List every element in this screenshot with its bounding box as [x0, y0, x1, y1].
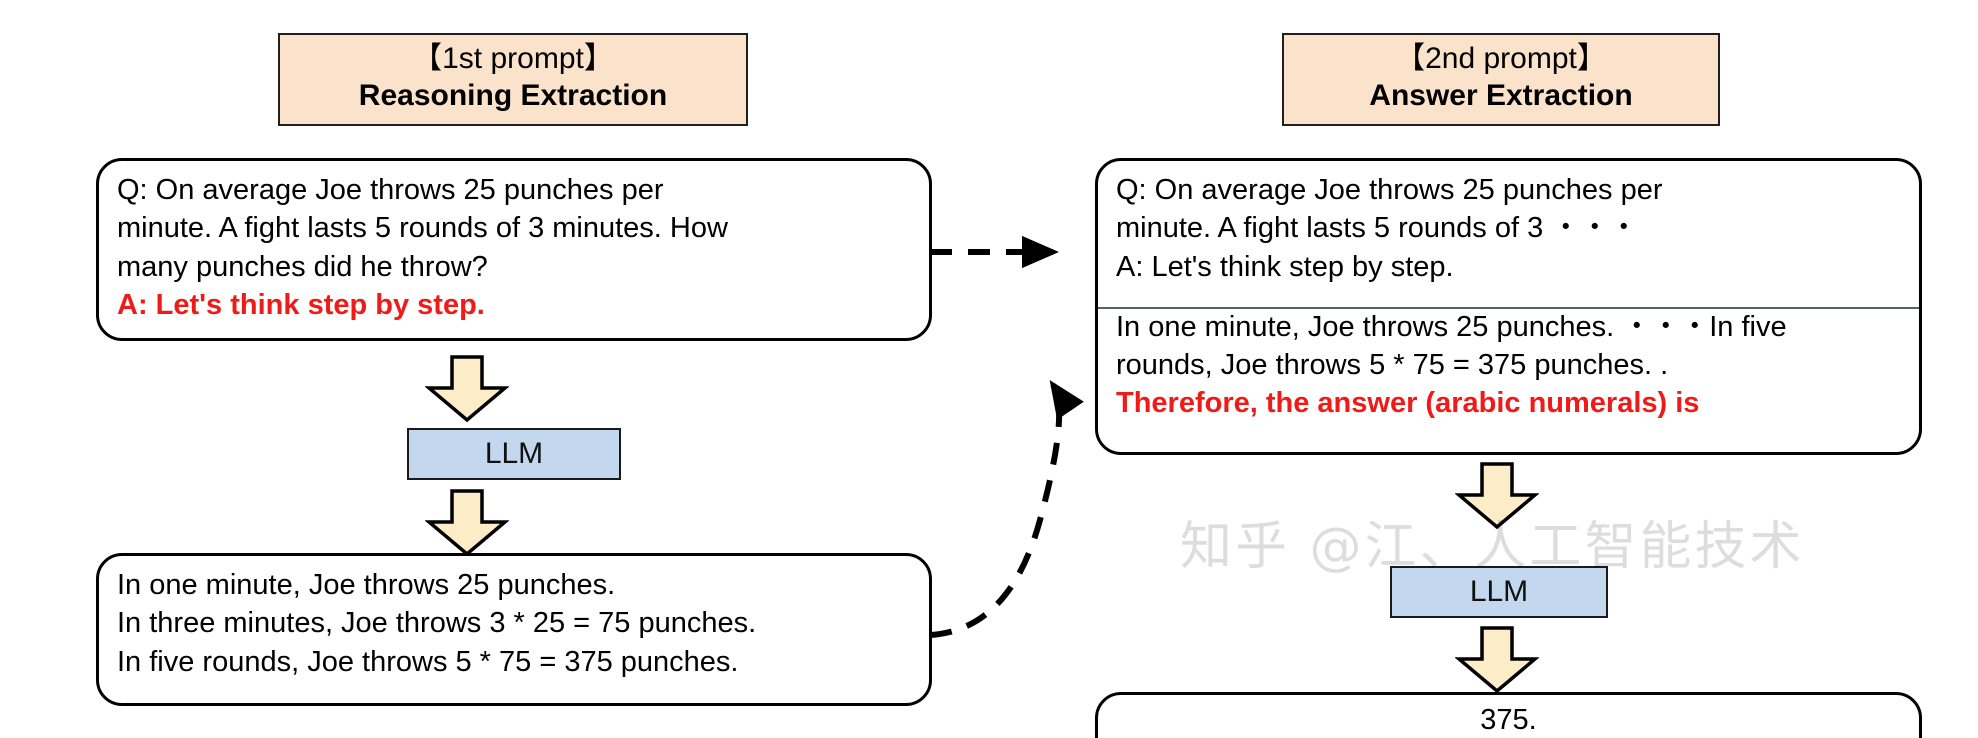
answer-value: 375. — [1480, 701, 1536, 738]
stage2-header-line2: Answer Extraction — [1284, 78, 1718, 115]
down-arrow-icon — [1455, 626, 1539, 694]
stage1-prompt-header: 【1st prompt】 Reasoning Extraction — [278, 33, 748, 126]
down-arrow-icon — [425, 489, 509, 557]
stage1-output-text: In one minute, Joe throws 25 punches. In… — [99, 556, 929, 689]
text-line: rounds, Joe throws 5 * 75 = 375 punches.… — [1116, 346, 1901, 384]
text-line: In three minutes, Joe throws 3 * 25 = 75… — [117, 604, 911, 642]
text-line-highlight: A: Let's think step by step. — [117, 286, 911, 324]
text-line: In one minute, Joe throws 25 punches. — [117, 566, 911, 604]
diagram-canvas: 【1st prompt】 Reasoning Extraction Q: On … — [0, 0, 1978, 738]
stage2-prompt-box: Q: On average Joe throws 25 punches per … — [1095, 158, 1922, 455]
stage2-answer-box: 375. — [1095, 692, 1922, 738]
down-arrow-icon — [425, 355, 509, 423]
stage2-header-line1: 【2nd prompt】 — [1284, 41, 1718, 78]
stage1-question-text: Q: On average Joe throws 25 punches per … — [99, 161, 929, 332]
dashed-arrow-bottom — [930, 385, 1059, 635]
text-line: Q: On average Joe throws 25 punches per — [1116, 171, 1901, 209]
prompt-section-divider — [1098, 307, 1919, 309]
text-line: In one minute, Joe throws 25 punches. ・・… — [1116, 308, 1901, 346]
stage1-llm-label: LLM — [485, 437, 543, 471]
stage1-output-box: In one minute, Joe throws 25 punches. In… — [96, 553, 932, 706]
stage1-question-box: Q: On average Joe throws 25 punches per … — [96, 158, 932, 341]
text-line: many punches did he throw? — [117, 248, 911, 286]
text-line: minute. A fight lasts 5 rounds of 3 ・・・ — [1116, 209, 1901, 247]
stage1-header-line2: Reasoning Extraction — [280, 78, 746, 115]
zhihu-watermark: 知乎 @江、人工智能技术 — [1180, 504, 1805, 579]
stage2-llm-label: LLM — [1470, 575, 1528, 609]
stage2-answer-text: 375. — [1098, 695, 1919, 738]
stage2-prompt-top-text: Q: On average Joe throws 25 punches per … — [1098, 161, 1919, 294]
text-line-highlight: Therefore, the answer (arabic numerals) … — [1116, 384, 1901, 422]
text-line: In five rounds, Joe throws 5 * 75 = 375 … — [117, 643, 911, 681]
text-line: Q: On average Joe throws 25 punches per — [117, 171, 911, 209]
text-line: minute. A fight lasts 5 rounds of 3 minu… — [117, 209, 911, 247]
stage2-prompt-header: 【2nd prompt】 Answer Extraction — [1282, 33, 1720, 126]
stage1-header-line1: 【1st prompt】 — [280, 41, 746, 78]
stage1-llm-box: LLM — [407, 428, 621, 480]
text-line: A: Let's think step by step. — [1116, 248, 1901, 286]
stage2-prompt-bottom-text: In one minute, Joe throws 25 punches. ・・… — [1098, 294, 1919, 431]
